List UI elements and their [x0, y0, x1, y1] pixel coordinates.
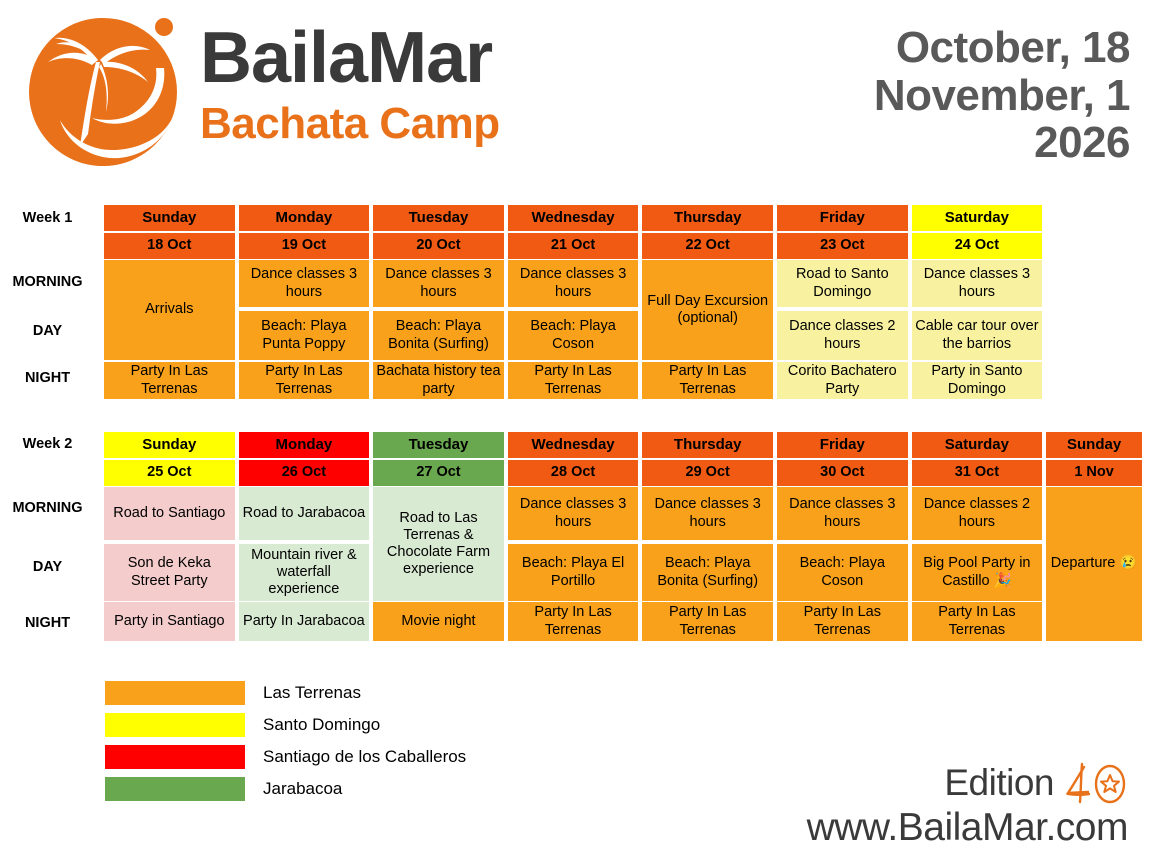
week-1-activity-cell: Party In Las Terrenas [104, 362, 235, 399]
week-2-activity-cell: Road to Jarabacoa [239, 487, 370, 540]
legend-label: Santiago de los Caballeros [263, 745, 466, 769]
week-1-morning-label: MORNING [0, 274, 95, 290]
week-1-activity-cell: Dance classes 2 hours [777, 311, 908, 360]
week-2-activity-cell: Party In Las Terrenas [777, 602, 908, 641]
legend-swatch-orange [105, 681, 245, 705]
week-2-activity-cell: Departure 😢 [1046, 487, 1142, 641]
week-1-dayname-sunday: Sunday [104, 205, 235, 231]
brand-name: BailaMar [200, 22, 500, 94]
week-2-activity-cell: Son de Keka Street Party [104, 544, 235, 601]
week-1-date-sunday: 18 Oct [104, 233, 235, 259]
page-footer: Edition www.BailaMar.com [807, 761, 1128, 850]
week-1-dayname-monday: Monday [239, 205, 370, 231]
week-2-dayname-sunday: Sunday [104, 432, 235, 458]
week-1-dayname-wednesday: Wednesday [508, 205, 639, 231]
week-1-activity-cell: Cable car tour over the barrios [912, 311, 1043, 360]
week-2-date-thursday: 29 Oct [642, 460, 773, 486]
legend-swatch-green [105, 777, 245, 801]
week-2-date-sunday-2: 1 Nov [1046, 460, 1142, 486]
week-1-date-tuesday: 20 Oct [373, 233, 504, 259]
week-2-activity-cell: Dance classes 3 hours [508, 487, 639, 540]
week-2-dayname-wednesday: Wednesday [508, 432, 639, 458]
website-url: www.BailaMar.com [807, 807, 1128, 850]
week-2-date-friday: 30 Oct [777, 460, 908, 486]
edition-label: Edition [944, 764, 1054, 803]
week-2-dayname-tuesday: Tuesday [373, 432, 504, 458]
week-2-label: Week 2 [0, 436, 95, 452]
week-1-night-label: NIGHT [0, 370, 95, 386]
week-2-activity-cell: Dance classes 2 hours [912, 487, 1043, 540]
week-2-dayname-monday: Monday [239, 432, 370, 458]
week-2-day-label: DAY [0, 559, 95, 575]
week-2-activity-cell: Beach: Playa Coson [777, 544, 908, 601]
week-1-activity-cell: Dance classes 3 hours [508, 260, 639, 307]
week-1-dayname-thursday: Thursday [642, 205, 773, 231]
week-1-day-label: DAY [0, 323, 95, 339]
brand-wordmark: BailaMar Bachata Camp [200, 22, 500, 146]
week-1-activity-cell: Dance classes 3 hours [912, 260, 1043, 307]
week-2-night-label: NIGHT [0, 615, 95, 631]
week-2-morning-label: MORNING [0, 500, 95, 516]
legend-swatch-yellow [105, 713, 245, 737]
camp-dates: October, 18 November, 1 2026 [874, 24, 1130, 167]
week-1-dayname-tuesday: Tuesday [373, 205, 504, 231]
week-2-activity-cell: Party In Jarabacoa [239, 602, 370, 641]
week-1-date-wednesday: 21 Oct [508, 233, 639, 259]
week-1-activity-cell: Beach: Playa Coson [508, 311, 639, 360]
week-1-date-thursday: 22 Oct [642, 233, 773, 259]
week-2-dayname-sunday-2: Sunday [1046, 432, 1142, 458]
legend-swatch-red [105, 745, 245, 769]
week-2-date-monday: 26 Oct [239, 460, 370, 486]
week-2-dayname-thursday: Thursday [642, 432, 773, 458]
edition-line: Edition [807, 761, 1128, 805]
week-1-date-monday: 19 Oct [239, 233, 370, 259]
week-2-activity-cell: Road to Santiago [104, 487, 235, 540]
week-1-activity-cell: Party in Santo Domingo [912, 362, 1043, 399]
week-2-activity-cell: Road to Las Terrenas & Chocolate Farm ex… [373, 487, 504, 601]
week-2-date-wednesday: 28 Oct [508, 460, 639, 486]
week-1-activity-cell: Corito Bachatero Party [777, 362, 908, 399]
week-1-activity-cell: Dance classes 3 hours [373, 260, 504, 307]
camp-date-start: October, 18 [874, 24, 1130, 72]
week-1-activity-cell: Road to Santo Domingo [777, 260, 908, 307]
week-1-date-friday: 23 Oct [777, 233, 908, 259]
week-1-activity-cell: Party In Las Terrenas [239, 362, 370, 399]
week-2-activity-cell: Party In Las Terrenas [912, 602, 1043, 641]
legend-label: Jarabacoa [263, 777, 342, 801]
week-2-activity-cell: Party In Las Terrenas [508, 602, 639, 641]
week-1-activity-cell: Party In Las Terrenas [642, 362, 773, 399]
week-1-activity-cell: Full Day Excursion (optional) [642, 260, 773, 360]
week-2-activity-cell: Dance classes 3 hours [777, 487, 908, 540]
week-2-activity-cell: Big Pool Party in Castillo 🎉 [912, 544, 1043, 601]
week-2-activity-cell: Party in Santiago [104, 602, 235, 641]
week-2-date-tuesday: 27 Oct [373, 460, 504, 486]
legend-label: Santo Domingo [263, 713, 380, 737]
week-1-activity-cell: Beach: Playa Punta Poppy [239, 311, 370, 360]
week-2-activity-cell: Dance classes 3 hours [642, 487, 773, 540]
week-2-activity-cell: Party In Las Terrenas [642, 602, 773, 641]
brand-subtitle: Bachata Camp [200, 102, 500, 146]
week-1-activity-cell: Party In Las Terrenas [508, 362, 639, 399]
week-1-label: Week 1 [0, 210, 95, 226]
week-2-date-sunday: 25 Oct [104, 460, 235, 486]
week-1-dayname-friday: Friday [777, 205, 908, 231]
week-2-activity-cell: Movie night [373, 602, 504, 641]
legend-label: Las Terrenas [263, 681, 361, 705]
week-1-activity-cell: Bachata history tea party [373, 362, 504, 399]
week-2-activity-cell: Mountain river & waterfall experience [239, 544, 370, 601]
week-1-activity-cell: Beach: Playa Bonita (Surfing) [373, 311, 504, 360]
week-1-activity-cell: Dance classes 3 hours [239, 260, 370, 307]
edition-number-icon [1062, 761, 1128, 805]
week-2-dayname-saturday: Saturday [912, 432, 1043, 458]
page-header: BailaMar Bachata Camp October, 18 Novemb… [0, 0, 1152, 185]
week-1-activity-cell: Arrivals [104, 260, 235, 360]
week-1-date-saturday: 24 Oct [912, 233, 1043, 259]
week-1-dayname-saturday: Saturday [912, 205, 1043, 231]
palm-tree-circle-logo [16, 10, 191, 175]
week-2-dayname-friday: Friday [777, 432, 908, 458]
week-2-activity-cell: Beach: Playa Bonita (Surfing) [642, 544, 773, 601]
week-2-date-saturday: 31 Oct [912, 460, 1043, 486]
camp-date-end: November, 1 [874, 72, 1130, 120]
camp-year: 2026 [874, 119, 1130, 167]
week-2-activity-cell: Beach: Playa El Portillo [508, 544, 639, 601]
